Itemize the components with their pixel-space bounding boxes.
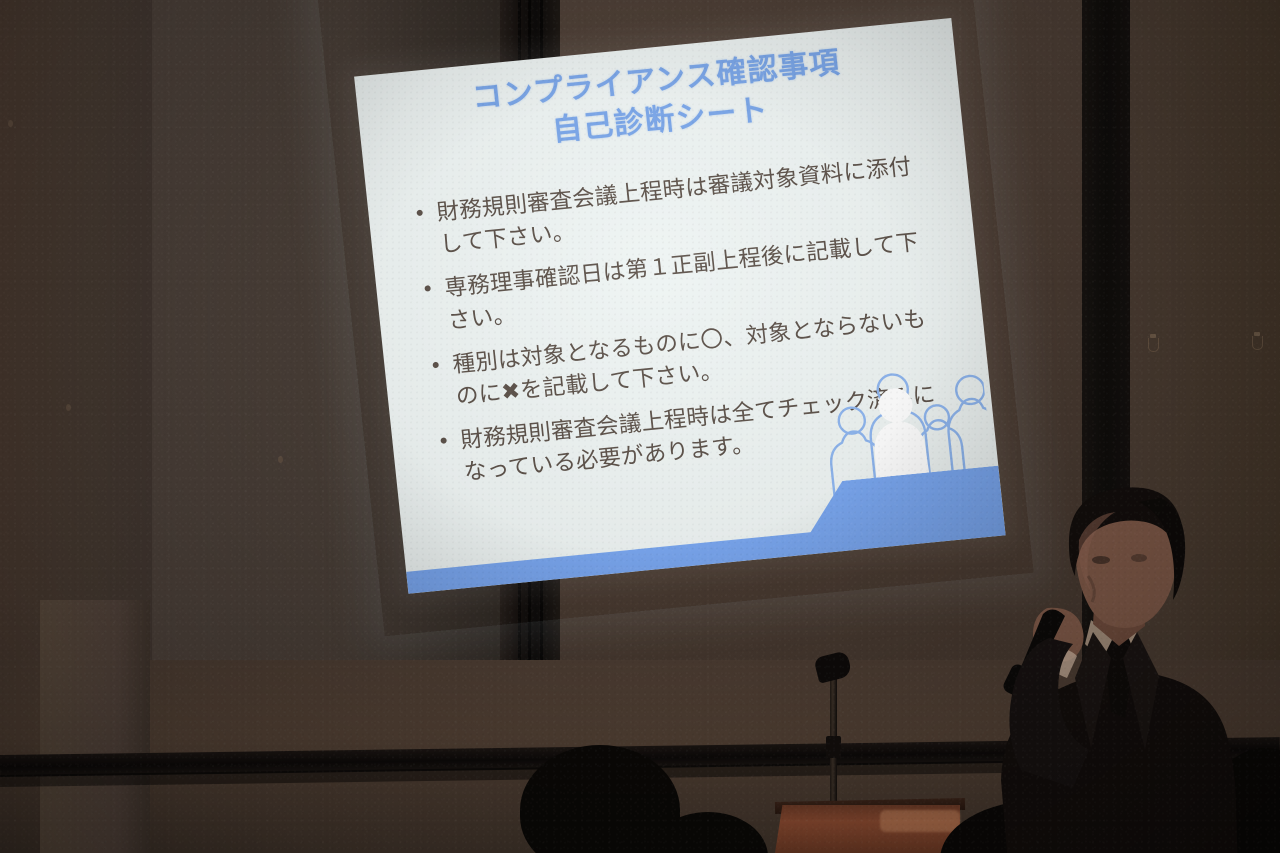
presenter-figure [955,480,1280,853]
presentation-photo-scene: コンプライアンス確認事項 自己診断シート 財務規則審査会議上程時は審議対象資料に… [0,0,1280,853]
bullet-dot-icon [424,285,431,292]
wall-mark [278,456,283,463]
wall-hook-icon [1148,338,1159,352]
wall-hook-icon [1252,336,1263,350]
wall-mark [8,120,13,127]
bullet-dot-icon [440,437,447,444]
lower-pillar [40,600,150,853]
microphone-stand-clutch [826,736,841,758]
bullet-dot-icon [432,361,439,368]
wall-mark [66,404,71,411]
bullet-dot-icon [416,210,423,217]
slide-surface: コンプライアンス確認事項 自己診断シート 財務規則審査会議上程時は審議対象資料に… [354,18,1006,594]
slide-title: コンプライアンス確認事項 自己診断シート [356,32,961,169]
lectern-highlight [880,810,960,832]
projection-screen: コンプライアンス確認事項 自己診断シート 財務規則審査会議上程時は審議対象資料に… [336,0,1014,617]
